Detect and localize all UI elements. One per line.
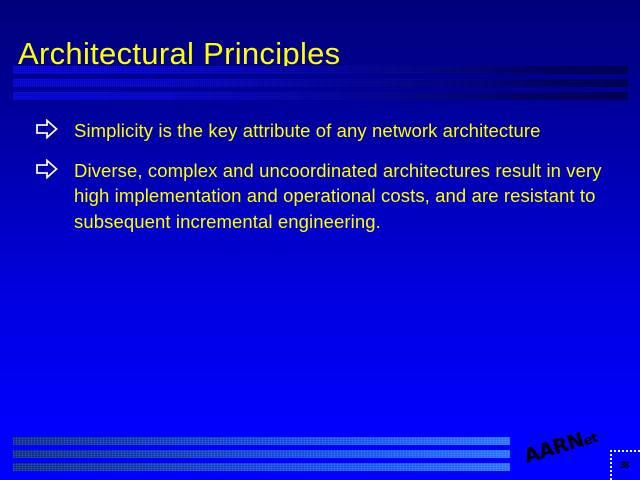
presentation-slide: Architectural Principles Simplicity is t…: [0, 0, 640, 480]
page-number: 38: [620, 460, 628, 470]
list-item: Diverse, complex and uncoordinated archi…: [36, 158, 616, 235]
bottom-bar-3: [13, 463, 510, 471]
bottom-bar-1: [13, 437, 510, 445]
bullet-list: Simplicity is the key attribute of any n…: [36, 118, 616, 248]
aarnet-logo-suffix: et: [582, 431, 600, 449]
page-number-box: 38: [610, 450, 640, 480]
right-arrow-outline-icon: [36, 118, 74, 139]
top-bar-3: [13, 92, 628, 100]
bottom-decorative-bars: [13, 437, 510, 471]
aarnet-logo: AARNet: [528, 432, 604, 472]
aarnet-logo-main: AARN: [521, 427, 586, 468]
top-decorative-bars: [13, 66, 628, 100]
top-bar-2: [13, 79, 628, 87]
list-item-text: Simplicity is the key attribute of any n…: [74, 118, 541, 144]
top-bar-1: [13, 66, 628, 74]
right-arrow-outline-icon: [36, 158, 74, 179]
list-item-text: Diverse, complex and uncoordinated archi…: [74, 158, 616, 235]
bottom-bar-2: [13, 450, 510, 458]
aarnet-logo-text: AARNet: [521, 423, 600, 468]
list-item: Simplicity is the key attribute of any n…: [36, 118, 616, 144]
